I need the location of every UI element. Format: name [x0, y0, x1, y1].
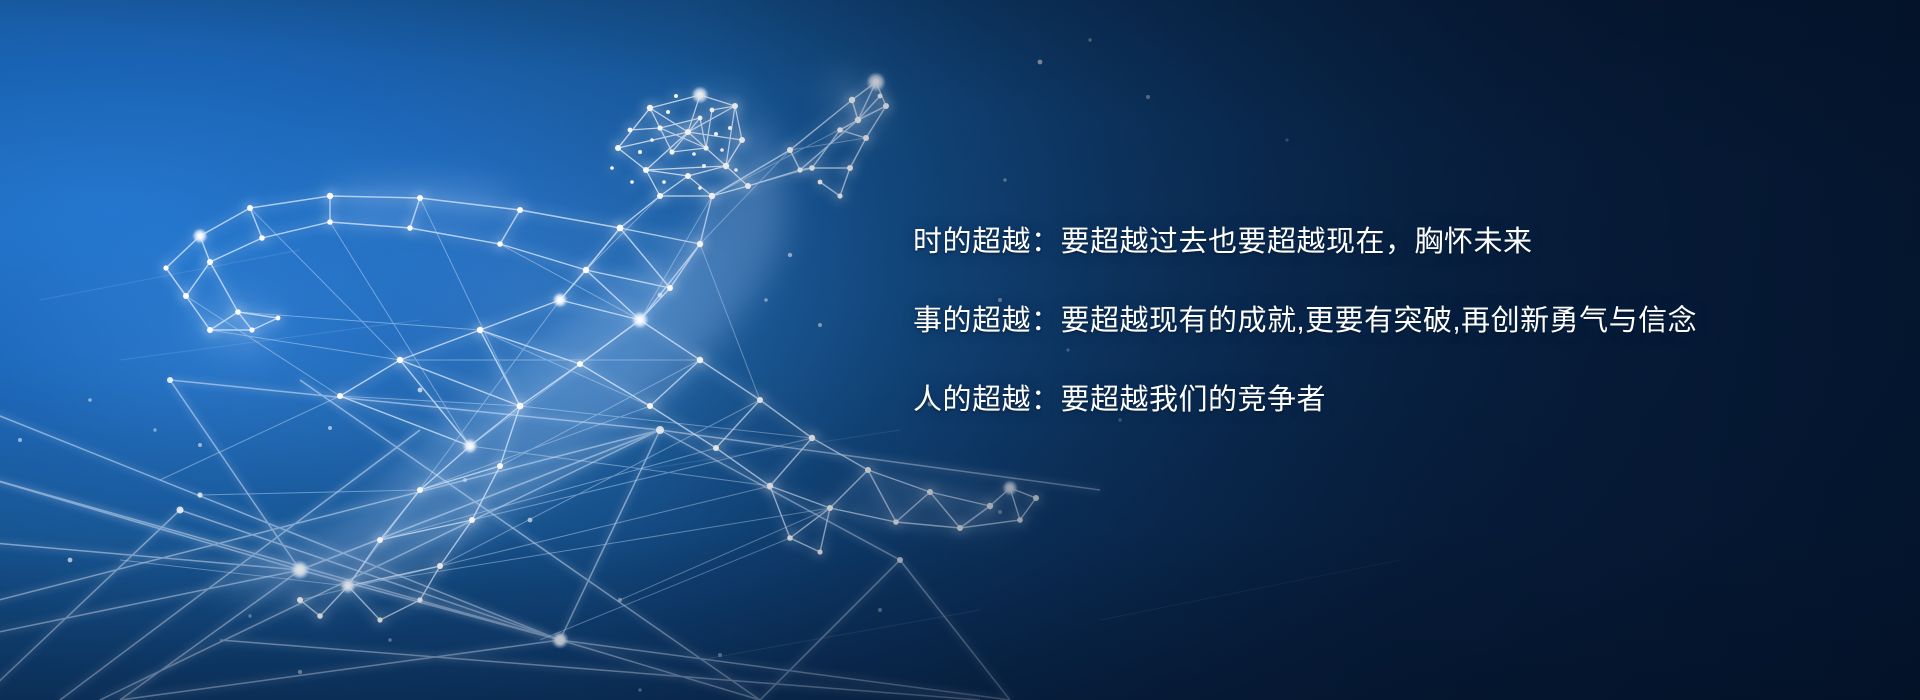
- tagline-block: 时的超越：要超越过去也要超越现在，胸怀未来 事的超越：要超越现有的成就,更要有突…: [913, 228, 1813, 415]
- tagline-people: 人的超越：要超越我们的竞争者: [913, 386, 1813, 415]
- hero-banner: 时的超越：要超越过去也要超越现在，胸怀未来 事的超越：要超越现有的成就,更要有突…: [0, 0, 1920, 700]
- tagline-time: 时的超越：要超越过去也要超越现在，胸怀未来: [913, 228, 1813, 257]
- tagline-achievement: 事的超越：要超越现有的成就,更要有突破,再创新勇气与信念: [913, 307, 1813, 336]
